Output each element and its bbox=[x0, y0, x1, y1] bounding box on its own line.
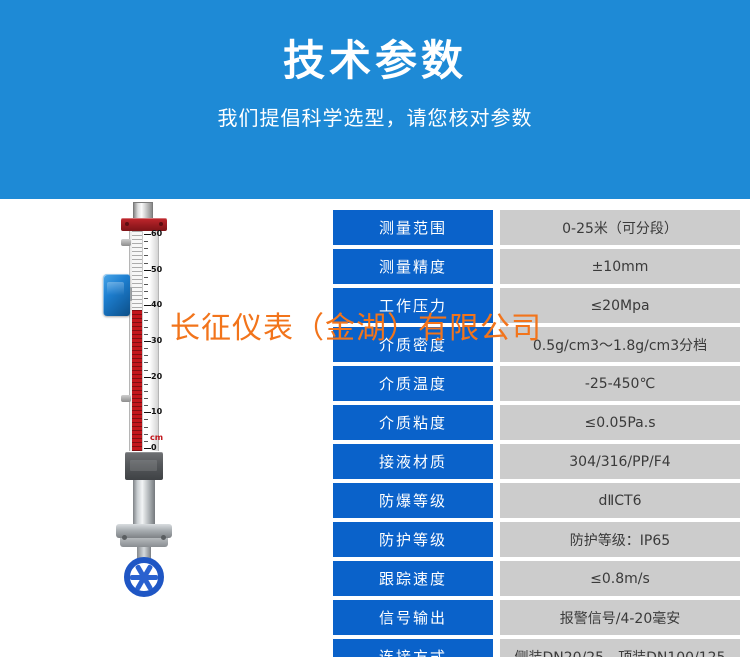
spec-label: 介质密度 bbox=[333, 327, 493, 362]
ruler-tick-minor bbox=[144, 441, 148, 442]
ruler-tick-major bbox=[144, 270, 151, 271]
measurement-ruler: 6050403020100cm bbox=[144, 231, 160, 451]
gauge-clamp-lower bbox=[121, 395, 131, 402]
spec-row: 介质温度-25-450℃ bbox=[333, 366, 740, 401]
stem-pipe bbox=[133, 480, 155, 524]
spec-row: 连接方式侧装DN20/25，顶装DN100/125 bbox=[333, 639, 740, 657]
spec-row: 接液材质304/316/PP/F4 bbox=[333, 444, 740, 479]
page-title: 技术参数 bbox=[283, 38, 467, 84]
spec-value: ≤0.8m/s bbox=[500, 561, 740, 596]
spec-row: 介质密度0.5g/cm3～1.8g/cm3分档 bbox=[333, 327, 740, 362]
ruler-tick-minor bbox=[144, 248, 148, 249]
ruler-tick-minor bbox=[144, 391, 148, 392]
ruler-tick-minor bbox=[144, 241, 148, 242]
ruler-tick-minor bbox=[144, 277, 148, 278]
ruler-tick-minor bbox=[144, 427, 148, 428]
ruler-tick-minor bbox=[144, 327, 148, 328]
spec-label: 工作压力 bbox=[333, 288, 493, 323]
spec-label: 介质温度 bbox=[333, 366, 493, 401]
ruler-number: 10 bbox=[151, 408, 162, 416]
spec-label: 测量精度 bbox=[333, 249, 493, 284]
ruler-tick-minor bbox=[144, 362, 148, 363]
spec-gap bbox=[493, 366, 500, 401]
spec-value: 侧装DN20/25，顶装DN100/125 bbox=[500, 639, 740, 657]
page-subtitle: 我们提倡科学选型，请您核对参数 bbox=[218, 102, 533, 131]
ruler-tick-minor bbox=[144, 348, 148, 349]
ruler-number: 20 bbox=[151, 373, 162, 381]
header-banner: 技术参数 我们提倡科学选型，请您核对参数 bbox=[0, 0, 750, 199]
ruler-tick-minor bbox=[144, 298, 148, 299]
spec-row: 防护等级防护等级：IP65 bbox=[333, 522, 740, 557]
spec-row: 测量范围0-25米（可分段） bbox=[333, 210, 740, 245]
ruler-tick-minor bbox=[144, 320, 148, 321]
gauge-scale-body: 6050403020100cm bbox=[129, 231, 159, 451]
ruler-tick-minor bbox=[144, 263, 148, 264]
spec-label: 跟踪速度 bbox=[333, 561, 493, 596]
flange-bolt-right bbox=[161, 535, 166, 540]
ruler-unit-label: cm bbox=[150, 434, 163, 442]
spec-gap bbox=[493, 561, 500, 596]
spec-label: 信号输出 bbox=[333, 600, 493, 635]
spec-gap bbox=[493, 210, 500, 245]
spec-row: 信号输出报警信号/4-20毫安 bbox=[333, 600, 740, 635]
spec-table: 测量范围0-25米（可分段）测量精度±10mm工作压力≤20Mpa介质密度0.5… bbox=[333, 210, 740, 657]
ruler-tick-major bbox=[144, 448, 151, 449]
spec-gap bbox=[493, 522, 500, 557]
ruler-tick-minor bbox=[144, 284, 148, 285]
spec-value: 0-25米（可分段） bbox=[500, 210, 740, 245]
ruler-number: 40 bbox=[151, 301, 162, 309]
ruler-number: 30 bbox=[151, 337, 162, 345]
spec-row: 跟踪速度≤0.8m/s bbox=[333, 561, 740, 596]
ruler-tick-minor bbox=[144, 384, 148, 385]
spec-label: 介质粘度 bbox=[333, 405, 493, 440]
bottom-flange-lower bbox=[120, 538, 168, 547]
spec-row: 测量精度±10mm bbox=[333, 249, 740, 284]
spec-label: 连接方式 bbox=[333, 639, 493, 657]
ruler-tick-minor bbox=[144, 255, 148, 256]
ruler-tick-major bbox=[144, 305, 151, 306]
spec-value: 0.5g/cm3～1.8g/cm3分档 bbox=[500, 327, 740, 362]
ruler-tick-major bbox=[144, 377, 151, 378]
junction-box bbox=[125, 452, 163, 480]
ruler-tick-major bbox=[144, 341, 151, 342]
ruler-tick-minor bbox=[144, 398, 148, 399]
spec-value: 报警信号/4-20毫安 bbox=[500, 600, 740, 635]
page-root: 技术参数 我们提倡科学选型，请您核对参数 6050403020100cm bbox=[0, 0, 750, 657]
spec-gap bbox=[493, 483, 500, 518]
ruler-number: 50 bbox=[151, 266, 162, 274]
spec-gap bbox=[493, 639, 500, 657]
ruler-tick-minor bbox=[144, 291, 148, 292]
spec-gap bbox=[493, 327, 500, 362]
transmitter-head bbox=[103, 274, 130, 316]
spec-label: 接液材质 bbox=[333, 444, 493, 479]
spec-gap bbox=[493, 249, 500, 284]
spec-value: -25-450℃ bbox=[500, 366, 740, 401]
flap-filled-section bbox=[132, 310, 142, 451]
spec-label: 防护等级 bbox=[333, 522, 493, 557]
spec-gap bbox=[493, 288, 500, 323]
spec-row: 介质粘度≤0.05Pa.s bbox=[333, 405, 740, 440]
spec-gap bbox=[493, 600, 500, 635]
ruler-tick-major bbox=[144, 412, 151, 413]
ruler-tick-major bbox=[144, 234, 151, 235]
spec-value: 防护等级：IP65 bbox=[500, 522, 740, 557]
ruler-number: 0 bbox=[151, 444, 157, 452]
magnetic-flap-column bbox=[132, 231, 143, 451]
spec-value: 304/316/PP/F4 bbox=[500, 444, 740, 479]
ruler-tick-minor bbox=[144, 370, 148, 371]
ruler-tick-minor bbox=[144, 419, 148, 420]
spec-label: 测量范围 bbox=[333, 210, 493, 245]
spec-gap bbox=[493, 444, 500, 479]
ruler-tick-minor bbox=[144, 355, 148, 356]
ruler-tick-minor bbox=[144, 334, 148, 335]
gauge-clamp-upper bbox=[121, 239, 131, 246]
level-gauge-illustration: 6050403020100cm bbox=[95, 199, 225, 657]
product-photo: 6050403020100cm bbox=[0, 199, 320, 657]
valve-handwheel bbox=[124, 557, 164, 597]
ruler-number: 60 bbox=[151, 230, 162, 238]
spec-gap bbox=[493, 405, 500, 440]
spec-value: dⅡCT6 bbox=[500, 483, 740, 518]
spec-value: ±10mm bbox=[500, 249, 740, 284]
ruler-tick-minor bbox=[144, 312, 148, 313]
spec-value: ≤20Mpa bbox=[500, 288, 740, 323]
spec-label: 防爆等级 bbox=[333, 483, 493, 518]
spec-row: 工作压力≤20Mpa bbox=[333, 288, 740, 323]
ruler-tick-minor bbox=[144, 434, 148, 435]
flange-bolt-left bbox=[122, 535, 127, 540]
ruler-tick-minor bbox=[144, 405, 148, 406]
spec-value: ≤0.05Pa.s bbox=[500, 405, 740, 440]
spec-row: 防爆等级dⅡCT6 bbox=[333, 483, 740, 518]
